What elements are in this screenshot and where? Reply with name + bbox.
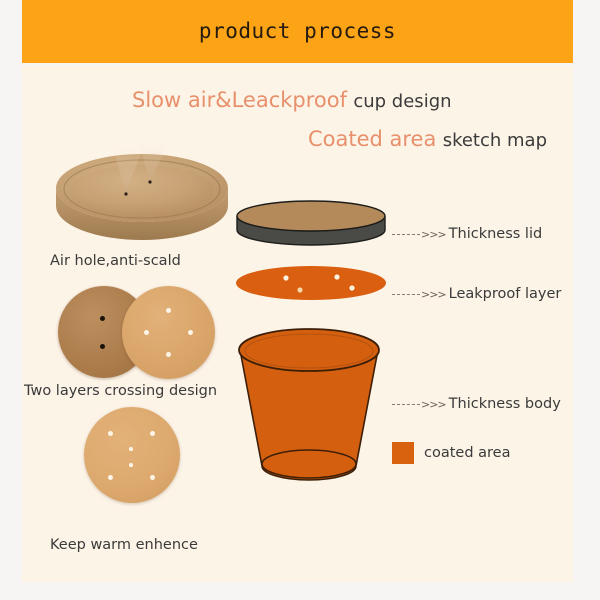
callout-label: Leakproof layer: [449, 286, 562, 302]
air-hole-dot: [188, 330, 193, 335]
heading-cup-design: Slow air&Leackproof cup design: [132, 88, 452, 112]
circle-outer-layer: [122, 286, 215, 379]
leakproof-ellipse-icon: [234, 259, 389, 307]
air-hole-dot: [108, 431, 113, 436]
leader-line: [392, 234, 420, 235]
air-hole-dot: [108, 475, 113, 480]
header-bar: product process: [22, 0, 573, 63]
chevron-right-icon: >>>: [421, 228, 446, 241]
caption-keep-warm: Keep warm enhence: [50, 537, 198, 553]
leader-line: [392, 294, 420, 295]
heading-plain-text: sketch map: [443, 130, 547, 151]
legend-label: coated area: [424, 445, 510, 461]
paper-lid-photo-icon: [52, 136, 232, 248]
page-title: product process: [22, 0, 573, 63]
chevron-right-icon: >>>: [421, 288, 446, 301]
content-panel: Slow air&Leackproof cup design Coated ar…: [22, 66, 573, 582]
lid-cross-section-icon: [234, 196, 389, 251]
cup-body-icon: [234, 326, 384, 488]
air-hole-dot: [129, 463, 133, 467]
legend-coated-area: coated area: [392, 442, 510, 464]
air-hole-dot: [166, 352, 171, 357]
heading-accent-text: Coated area: [308, 127, 436, 151]
air-hole-dot: [100, 344, 105, 349]
legend-color-swatch: [392, 442, 414, 464]
air-hole-dot: [144, 330, 149, 335]
chevron-right-icon: >>>: [421, 398, 446, 411]
air-hole-dot: [150, 431, 155, 436]
callout-label: Thickness body: [449, 396, 561, 412]
air-hole-dot: [150, 475, 155, 480]
caption-two-layers: Two layers crossing design: [24, 383, 217, 399]
heading-plain-text: cup design: [353, 91, 451, 112]
callout-thickness-lid: >>> Thickness lid: [392, 226, 542, 242]
air-hole-dot: [100, 316, 105, 321]
circle-keep-warm: [84, 407, 180, 503]
callout-label: Thickness lid: [449, 226, 543, 242]
leader-line: [392, 404, 420, 405]
product-process-infographic: product process Slow air&Leackproof cup …: [0, 0, 600, 600]
caption-air-hole: Air hole,anti-scald: [50, 253, 181, 269]
air-hole-dot: [166, 308, 171, 313]
callout-thickness-body: >>> Thickness body: [392, 396, 561, 412]
callout-leakproof-layer: >>> Leakproof layer: [392, 286, 561, 302]
heading-accent-text: Slow air&Leackproof: [132, 88, 347, 112]
air-hole-dot: [129, 447, 133, 451]
